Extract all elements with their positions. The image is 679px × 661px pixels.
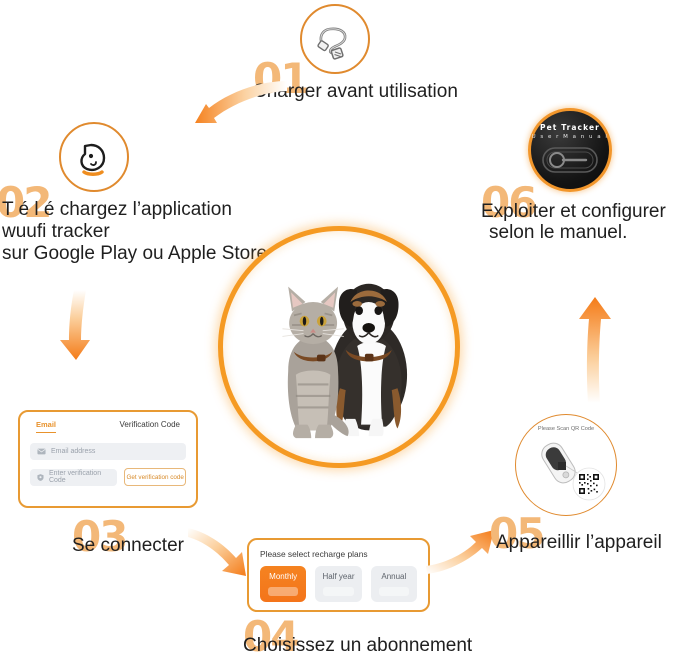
plan-option-monthly-bar — [268, 587, 298, 596]
step-01-icon-ring — [300, 4, 370, 74]
manual-disc-subtitle: U s e r M a n u a l — [532, 134, 609, 140]
recharge-plans-card: Please select recharge plans Monthly Hal… — [247, 538, 430, 612]
envelope-icon — [37, 448, 46, 455]
dog-with-tracker-collar — [330, 284, 407, 436]
hero-pets-circle — [218, 226, 460, 468]
email-field[interactable]: Email address — [30, 443, 186, 460]
step-06-caption-line-2: selon le manuel. — [489, 222, 627, 244]
plan-option-annual-bar — [379, 587, 409, 596]
step-05-caption: Appareillir l’appareil — [496, 532, 662, 554]
login-tabs: Email Verification Code — [30, 420, 186, 433]
arrow-02-to-03 — [52, 288, 112, 366]
plan-option-half-year-bar — [323, 587, 353, 596]
plans-card-title: Please select recharge plans — [260, 549, 417, 559]
shield-icon — [37, 473, 44, 482]
email-field-placeholder: Email address — [51, 448, 95, 455]
step-06-caption-line-1: Exploiter et configurer — [481, 201, 666, 223]
verification-code-field[interactable]: Enter verification Code — [30, 469, 117, 486]
tracker-device-outline-icon — [542, 147, 598, 173]
user-manual-disc: Pet Tracker U s e r M a n u a l — [528, 108, 612, 192]
step-01-caption: Charger avant utilisation — [253, 81, 458, 103]
plan-option-half-year-label: Half year — [322, 572, 354, 581]
pet-head-app-icon — [72, 135, 116, 179]
get-verification-code-button[interactable]: Get verification code — [124, 468, 186, 486]
infographic-canvas: 01 Charger avant utilisation 02 T é l é … — [0, 0, 679, 658]
login-form-card: Email Verification Code Email address En… — [18, 410, 198, 508]
plan-option-monthly[interactable]: Monthly — [260, 566, 306, 602]
plan-option-monthly-label: Monthly — [269, 572, 297, 581]
manual-disc-title: Pet Tracker — [540, 123, 600, 132]
verification-row: Enter verification Code Get verification… — [30, 468, 186, 486]
step-02-caption-line-2: wuufi tracker — [2, 221, 110, 243]
step-03-caption: Se connecter — [72, 535, 184, 557]
usb-charging-cable-icon — [312, 16, 358, 62]
tab-verification-code[interactable]: Verification Code — [120, 420, 180, 429]
step-04-caption: Choisissez un abonnement — [243, 635, 472, 657]
qr-pairing-card: Please Scan QR Code — [515, 414, 617, 516]
step-02-caption-line-1: T é l é chargez l’application — [2, 199, 232, 221]
verification-code-placeholder: Enter verification Code — [49, 470, 110, 484]
plans-options-row: Monthly Half year Annual — [260, 566, 417, 602]
qr-code-icon — [578, 473, 600, 495]
plan-option-annual[interactable]: Annual — [371, 566, 417, 602]
arrow-05-to-06 — [572, 285, 622, 405]
tab-email[interactable]: Email — [36, 420, 56, 433]
plan-option-annual-label: Annual — [381, 572, 406, 581]
hero-pets-illustration — [223, 231, 455, 463]
plan-option-half-year[interactable]: Half year — [315, 566, 361, 602]
step-02-icon-ring — [59, 122, 129, 192]
